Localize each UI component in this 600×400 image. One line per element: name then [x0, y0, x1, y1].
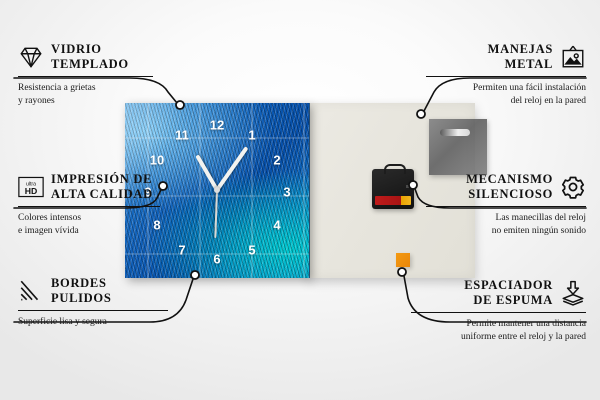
callout-description: Permiten una fácil instalación del reloj… [426, 82, 586, 108]
callout-description: Las manecillas del reloj no emiten ningú… [426, 212, 586, 238]
callout-divider [18, 76, 153, 78]
mechanism-label [406, 185, 410, 188]
callout-divider [411, 312, 586, 314]
dial-number: 1 [248, 129, 255, 142]
product-photo: 12 1 2 3 4 5 6 7 8 9 10 11 [125, 103, 475, 278]
ultra-hd-icon: ultra HD [18, 174, 44, 200]
dial-number: 4 [273, 219, 280, 232]
callout-title: MECANISMO SILENCIOSO [466, 172, 553, 202]
dial-number: 7 [178, 244, 185, 257]
callout-title: IMPRESIÓN DE ALTA CALIDAD [51, 172, 153, 202]
callout-espaciador-espuma: ESPACIADOR DE ESPUMA Permite mantener un… [411, 278, 586, 344]
callout-header: MECANISMO SILENCIOSO [426, 172, 586, 202]
callout-header: ultra HD IMPRESIÓN DE ALTA CALIDAD [18, 172, 160, 202]
callout-bordes-pulidos: BORDES PULIDOS Superficie lisa y segura [18, 276, 168, 329]
dial-number: 11 [175, 129, 189, 142]
callout-mecanismo-silencioso: MECANISMO SILENCIOSO Las manecillas del … [426, 172, 586, 238]
hanger-slot [440, 129, 470, 136]
infographic-canvas: 12 1 2 3 4 5 6 7 8 9 10 11 [0, 0, 600, 400]
callout-title: VIDRIO TEMPLADO [51, 42, 129, 72]
callout-title: MANEJAS METAL [488, 42, 553, 72]
dial-number: 2 [273, 154, 280, 167]
callout-description: Colores intensos e imagen vívida [18, 212, 160, 238]
foam-spacer [396, 253, 410, 267]
diamond-icon [18, 44, 44, 70]
dial-number: 5 [248, 244, 255, 257]
callout-header: BORDES PULIDOS [18, 276, 168, 306]
callout-divider [18, 206, 160, 208]
callout-header: MANEJAS METAL [426, 42, 586, 72]
callout-title: BORDES PULIDOS [51, 276, 111, 306]
callout-vidrio-templado: VIDRIO TEMPLADO Resistencia a grietas y … [18, 42, 153, 108]
dial-number: 10 [150, 154, 164, 167]
picture-frame-hanger-icon [560, 44, 586, 70]
callout-manejas-metal: MANEJAS METAL Permiten una fácil instala… [426, 42, 586, 108]
gear-icon [560, 174, 586, 200]
callout-header: VIDRIO TEMPLADO [18, 42, 153, 72]
metal-hanger-plate [429, 119, 487, 175]
callout-header: ESPACIADOR DE ESPUMA [411, 278, 586, 308]
callout-divider [426, 76, 586, 78]
hand-center-cap [214, 187, 220, 193]
foam-spacer-icon [560, 280, 586, 306]
callout-description: Resistencia a grietas y rayones [18, 82, 153, 108]
svg-text:HD: HD [25, 186, 38, 196]
dial-number: 12 [210, 119, 224, 132]
callout-divider [18, 310, 168, 312]
callout-description: Permite mantener una distancia uniforme … [411, 318, 586, 344]
beveled-edge-icon [18, 278, 44, 304]
dial-number: 3 [283, 186, 290, 199]
battery [375, 196, 411, 205]
clock-mechanism-box [372, 169, 414, 209]
callout-divider [426, 206, 586, 208]
dial-number: 6 [213, 253, 220, 266]
callout-title: ESPACIADOR DE ESPUMA [464, 278, 553, 308]
mechanism-bail [384, 164, 406, 174]
callout-impresion-alta-calidad: ultra HD IMPRESIÓN DE ALTA CALIDAD Color… [18, 172, 160, 238]
callout-description: Superficie lisa y segura [18, 316, 168, 329]
